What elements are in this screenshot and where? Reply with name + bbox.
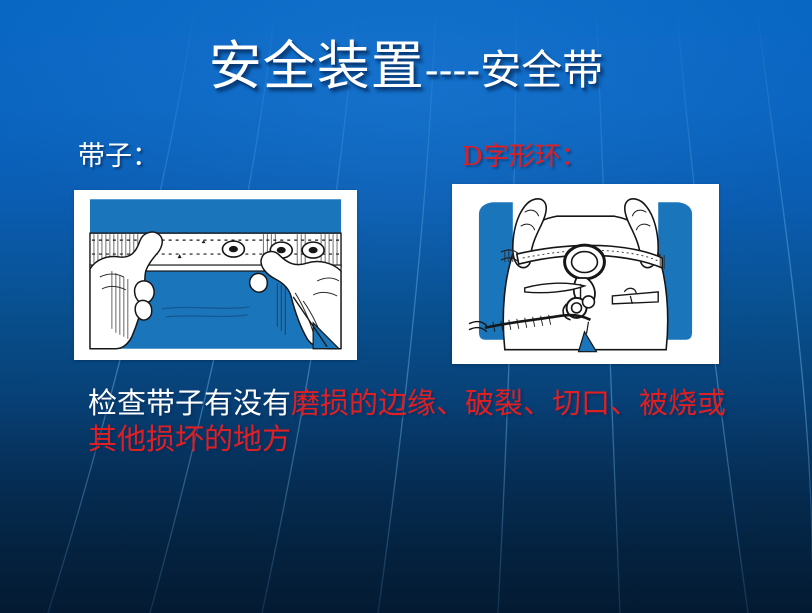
slide-title-main: 安全装置 xyxy=(209,36,425,97)
label-d-ring: D字形环： xyxy=(462,136,587,173)
caption-line1-white: 检查带子有没有 xyxy=(88,386,291,420)
strap-inspection-illustration xyxy=(82,197,349,353)
label-strap: 带子： xyxy=(78,134,159,173)
slide-title-separator: ---- xyxy=(425,46,480,94)
slide-title-sub: 安全带 xyxy=(480,46,603,94)
figure-d-ring-belt xyxy=(452,184,719,364)
caption-line1-red: 磨损的边缘、破裂、切口、被 xyxy=(291,386,668,420)
figure-strap-inspection xyxy=(74,190,357,360)
caption-text: 检查带子有没有磨损的边缘、破裂、切口、被烧或其他损坏的地方 xyxy=(88,386,748,457)
d-ring-belt-illustration xyxy=(461,192,710,356)
slide-title: 安全装置----安全带 xyxy=(0,40,812,93)
slide-canvas: 安全装置----安全带 带子： D字形环： xyxy=(0,0,812,613)
